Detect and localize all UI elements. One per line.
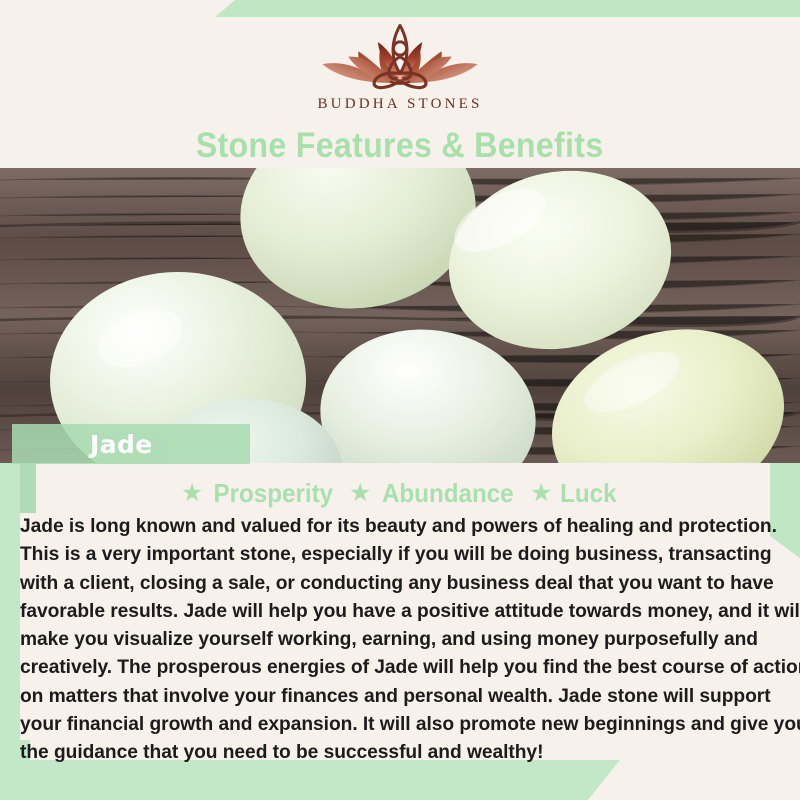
stone-name-banner: Jade xyxy=(12,424,250,464)
brand-name: BUDDHA STONES xyxy=(317,96,482,113)
description-line: the guidance that you need to be success… xyxy=(20,738,778,766)
description-line: on matters that involve your finances an… xyxy=(20,682,778,710)
benefit-label: Abundance xyxy=(382,478,514,509)
benefit-item-prosperity: ★ Prosperity xyxy=(181,478,338,509)
description-line: This is a very important stone, especial… xyxy=(20,540,778,568)
description-line: your financial growth and expansion. It … xyxy=(20,710,778,738)
description-line: Jade is long known and valued for its be… xyxy=(20,512,778,540)
benefit-label: Luck xyxy=(560,478,616,509)
stone-name-label: Jade xyxy=(90,430,153,459)
stone-info-poster: BUDDHA STONES Stone Features & Benefits xyxy=(0,0,800,800)
stone-description: Jade is long known and valued for its be… xyxy=(20,512,790,767)
description-line: make you visualize yourself working, ear… xyxy=(20,625,778,653)
star-icon: ★ xyxy=(530,481,552,506)
benefit-item-abundance: ★ Abundance xyxy=(349,478,519,509)
description-line: creatively. The prosperous energies of J… xyxy=(20,653,778,681)
description-line: favorable results. Jade will help you ha… xyxy=(20,597,778,625)
page-title: Stone Features & Benefits xyxy=(196,126,604,166)
description-line: with a client, closing a sale, or conduc… xyxy=(20,569,778,597)
star-icon: ★ xyxy=(181,481,203,506)
title-band: Stone Features & Benefits xyxy=(0,124,800,168)
benefit-label: Prosperity xyxy=(214,478,334,509)
lotus-meditation-icon xyxy=(305,18,495,90)
star-icon: ★ xyxy=(349,481,371,506)
stone-photo xyxy=(0,168,800,463)
benefit-item-luck: ★ Luck xyxy=(530,478,619,509)
benefits-row: ★ Prosperity ★ Abundance ★ Luck xyxy=(0,476,800,510)
